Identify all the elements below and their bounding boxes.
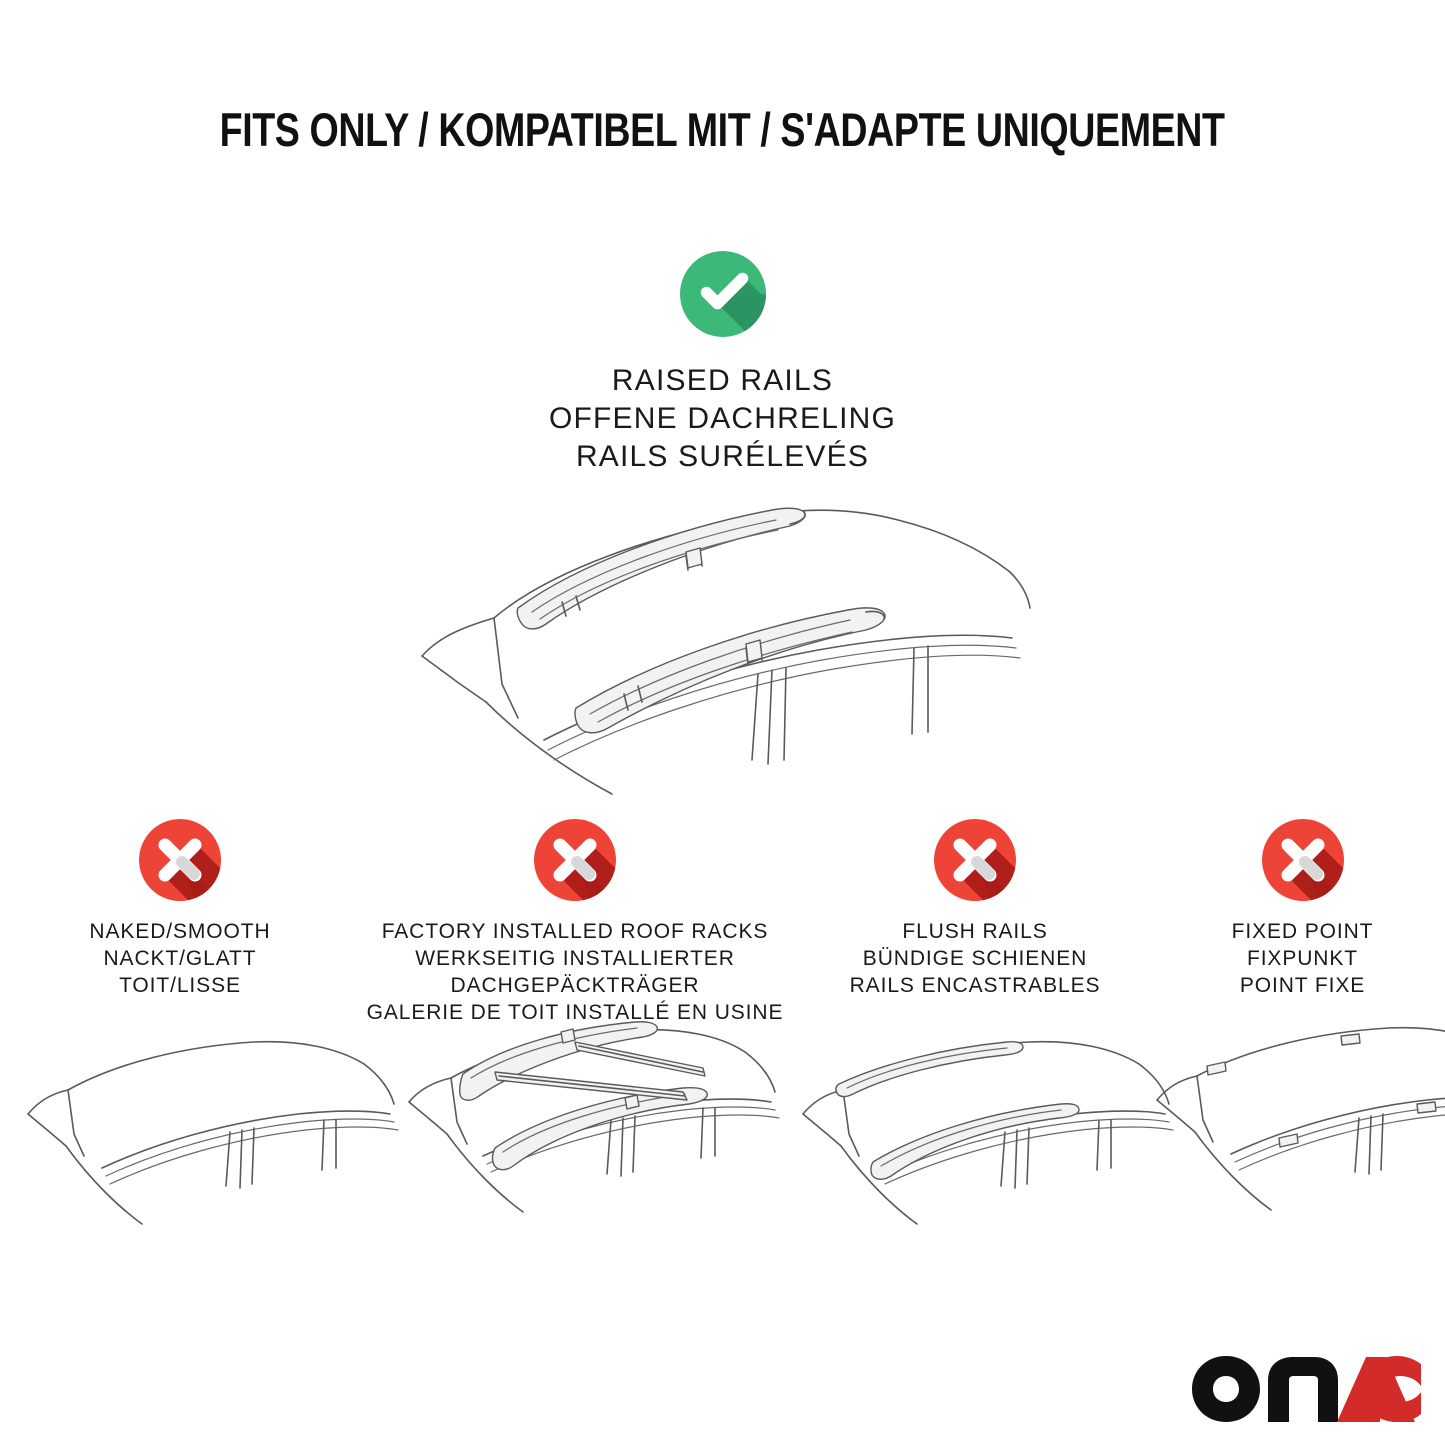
incompatible-caption-line-en: NAKED/SMOOTH xyxy=(0,918,360,945)
incompatible-item-flush-rails: FLUSH RAILS BÜNDIGE SCHIENEN RAILS ENCAS… xyxy=(790,818,1160,999)
incompatible-item-naked-smooth: NAKED/SMOOTH NACKT/GLATT TOIT/LISSE xyxy=(0,818,360,999)
check-circle-icon-svg xyxy=(679,250,767,338)
incompatible-caption: FLUSH RAILS BÜNDIGE SCHIENEN RAILS ENCAS… xyxy=(790,918,1160,999)
incompatible-caption-line-fr: POINT FIXE xyxy=(1160,972,1445,999)
omac-logo xyxy=(1190,1352,1422,1426)
infographic-page: FITS ONLY / KOMPATIBEL MIT / S'ADAPTE UN… xyxy=(0,0,1445,1445)
roof-illustration-naked-smooth-svg xyxy=(8,1022,408,1262)
roof-illustration-factory-roof-racks-svg xyxy=(385,1012,785,1252)
check-circle-icon xyxy=(679,250,767,338)
compatible-caption-line-de: OFFENE DACHRELING xyxy=(0,400,1445,438)
x-circle-icon xyxy=(1261,818,1345,902)
roof-illustration-raised-rails xyxy=(398,488,1038,788)
x-circle-icon-svg xyxy=(138,818,222,902)
incompatible-item-fixed-point: FIXED POINT FIXPUNKT POINT FIXE xyxy=(1160,818,1445,999)
incompatible-caption: FACTORY INSTALLED ROOF RACKS WERKSEITIG … xyxy=(360,918,790,1026)
incompatible-caption-line-de: FIXPUNKT xyxy=(1160,945,1445,972)
roof-illustration-fixed-point-svg xyxy=(1145,1018,1445,1258)
x-circle-icon xyxy=(533,818,617,902)
roof-illustration-factory-roof-racks xyxy=(385,1012,785,1252)
incompatible-caption-line-en: FACTORY INSTALLED ROOF RACKS xyxy=(360,918,790,945)
roof-illustration-fixed-point xyxy=(1145,1018,1445,1258)
incompatible-caption: FIXED POINT FIXPUNKT POINT FIXE xyxy=(1160,918,1445,999)
compatible-section: RAISED RAILS OFFENE DACHRELING RAILS SUR… xyxy=(0,250,1445,476)
compatible-caption-line-fr: RAILS SURÉLEVÉS xyxy=(0,438,1445,476)
roof-illustration-flush-rails-svg xyxy=(785,1022,1185,1262)
roof-illustration-flush-rails xyxy=(785,1022,1185,1262)
x-circle-icon-svg xyxy=(933,818,1017,902)
incompatible-caption-line-de-1: WERKSEITIG INSTALLIERTER xyxy=(360,945,790,972)
incompatible-caption-line-en: FIXED POINT xyxy=(1160,918,1445,945)
compatible-caption: RAISED RAILS OFFENE DACHRELING RAILS SUR… xyxy=(0,362,1445,476)
x-circle-icon-svg xyxy=(533,818,617,902)
incompatible-caption-line-fr: TOIT/LISSE xyxy=(0,972,360,999)
incompatible-caption-line-fr: RAILS ENCASTRABLES xyxy=(790,972,1160,999)
incompatible-caption-line-de: BÜNDIGE SCHIENEN xyxy=(790,945,1160,972)
x-circle-icon xyxy=(933,818,1017,902)
compatible-caption-line-en: RAISED RAILS xyxy=(0,362,1445,400)
incompatible-item-factory-roof-racks: FACTORY INSTALLED ROOF RACKS WERKSEITIG … xyxy=(360,818,790,1026)
roof-illustration-naked-smooth xyxy=(8,1022,408,1262)
page-title-text: FITS ONLY / KOMPATIBEL MIT / S'ADAPTE UN… xyxy=(220,104,1225,156)
incompatible-caption-line-de: NACKT/GLATT xyxy=(0,945,360,972)
x-circle-icon xyxy=(138,818,222,902)
incompatible-caption-line-de-2: DACHGEPÄCKTRÄGER xyxy=(360,972,790,999)
page-title: FITS ONLY / KOMPATIBEL MIT / S'ADAPTE UN… xyxy=(0,104,1445,156)
roof-illustration-raised-rails-svg xyxy=(398,488,1038,788)
incompatible-caption-line-en: FLUSH RAILS xyxy=(790,918,1160,945)
x-circle-icon-svg xyxy=(1261,818,1345,902)
incompatible-caption: NAKED/SMOOTH NACKT/GLATT TOIT/LISSE xyxy=(0,918,360,999)
omac-logo-svg xyxy=(1190,1352,1422,1426)
incompatible-section: NAKED/SMOOTH NACKT/GLATT TOIT/LISSE xyxy=(0,818,1445,1026)
